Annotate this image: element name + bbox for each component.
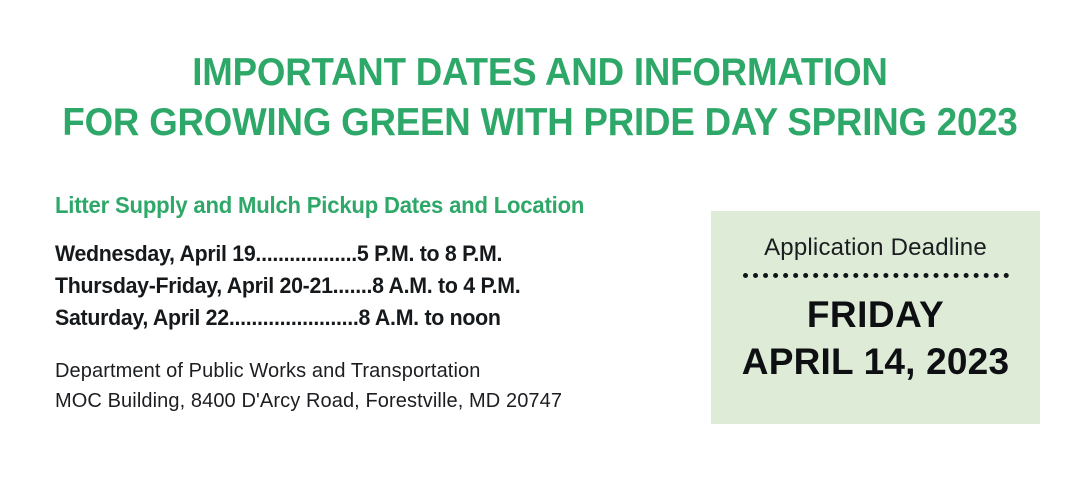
headline-line-2: FOR GROWING GREEN WITH PRIDE DAY SPRING …	[32, 98, 1047, 148]
list-item: Wednesday, April 19..................5 P…	[55, 238, 666, 270]
address-line-street: MOC Building, 8400 D'Arcy Road, Forestvi…	[55, 386, 685, 416]
section-title-pickup: Litter Supply and Mulch Pickup Dates and…	[55, 190, 660, 220]
application-deadline-box: Application Deadline FRIDAY APRIL 14, 20…	[711, 211, 1040, 424]
list-item: Thursday-Friday, April 20-21.......8 A.M…	[55, 270, 666, 302]
dotted-divider	[743, 273, 1009, 278]
deadline-day: FRIDAY	[737, 292, 1014, 338]
flyer-canvas: IMPORTANT DATES AND INFORMATION FOR GROW…	[0, 0, 1080, 500]
list-item: Saturday, April 22......................…	[55, 302, 666, 334]
address-line-department: Department of Public Works and Transport…	[55, 356, 685, 386]
pickup-info-column: Litter Supply and Mulch Pickup Dates and…	[55, 190, 685, 416]
deadline-date: APRIL 14, 2023	[737, 338, 1014, 386]
headline-line-1: IMPORTANT DATES AND INFORMATION	[32, 48, 1047, 98]
page-title: IMPORTANT DATES AND INFORMATION FOR GROW…	[32, 48, 1047, 148]
pickup-date-list: Wednesday, April 19..................5 P…	[55, 238, 685, 334]
deadline-label: Application Deadline	[737, 233, 1014, 263]
address-block: Department of Public Works and Transport…	[55, 356, 685, 416]
